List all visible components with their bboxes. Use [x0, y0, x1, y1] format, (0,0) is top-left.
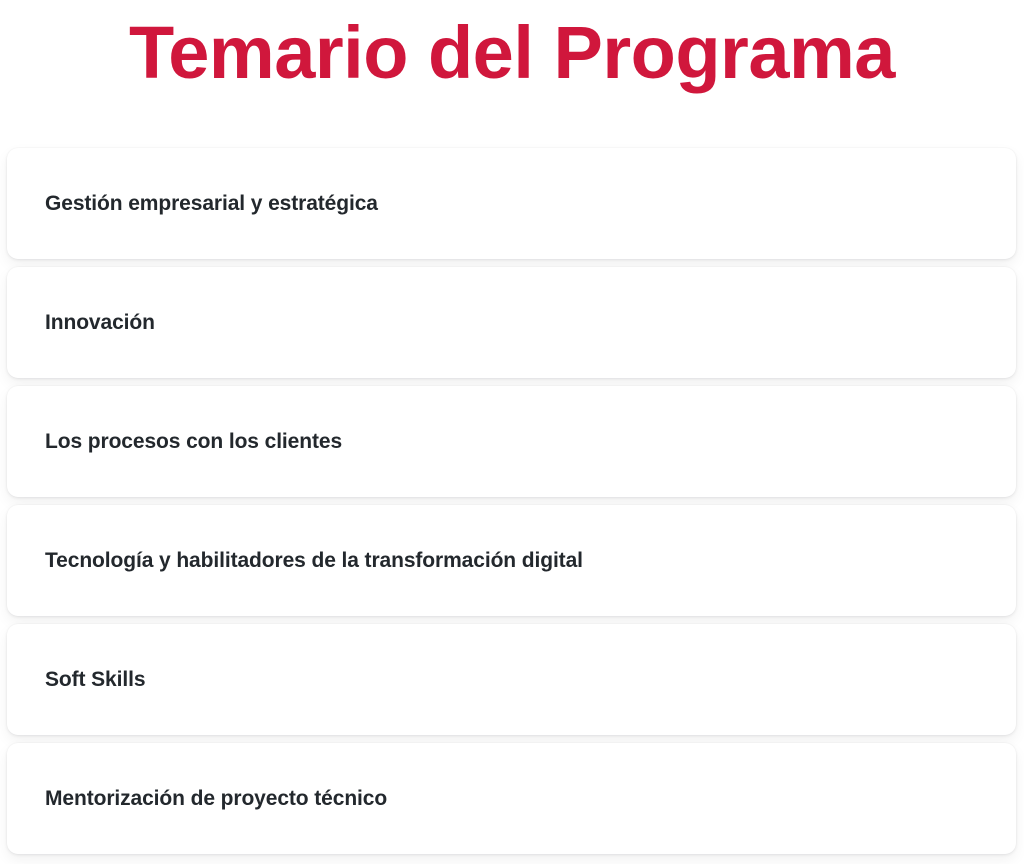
topic-card-mentorizacion-proyecto[interactable]: Mentorización de proyecto técnico	[7, 743, 1016, 854]
topic-label: Innovación	[7, 309, 183, 337]
topic-card-gestion-empresarial[interactable]: Gestión empresarial y estratégica	[7, 148, 1016, 259]
topic-card-soft-skills[interactable]: Soft Skills	[7, 624, 1016, 735]
syllabus-topics-list: Gestión empresarial y estratégica Innova…	[0, 148, 1024, 854]
topic-card-tecnologia-habilitadores[interactable]: Tecnología y habilitadores de la transfo…	[7, 505, 1016, 616]
topic-card-procesos-clientes[interactable]: Los procesos con los clientes	[7, 386, 1016, 497]
program-syllabus-page: Temario del Programa Gestión empresarial…	[0, 0, 1024, 864]
topic-label: Soft Skills	[7, 666, 173, 694]
topic-label: Gestión empresarial y estratégica	[7, 190, 406, 218]
topic-card-innovacion[interactable]: Innovación	[7, 267, 1016, 378]
topic-label: Tecnología y habilitadores de la transfo…	[7, 547, 611, 575]
topic-label: Mentorización de proyecto técnico	[7, 785, 415, 813]
topic-label: Los procesos con los clientes	[7, 428, 370, 456]
page-title: Temario del Programa	[0, 9, 1024, 97]
